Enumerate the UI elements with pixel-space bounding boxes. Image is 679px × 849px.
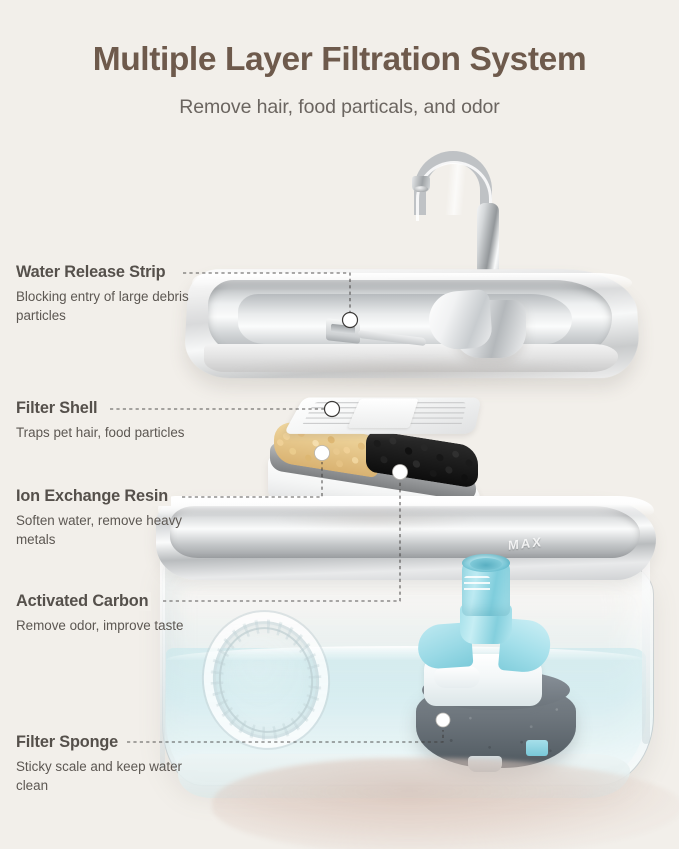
- callout-filter-shell: Filter Shell Traps pet hair, food partic…: [16, 399, 184, 442]
- cartridge-drop-shadow: [276, 508, 476, 530]
- callout-title-filter-sponge: Filter Sponge: [16, 733, 121, 752]
- callout-desc-water-release-strip: Blocking entry of large debris particles: [16, 287, 191, 326]
- filtration-infographic: Multiple Layer Filtration System Remove …: [0, 0, 679, 849]
- callout-title-water-release-strip: Water Release Strip: [16, 263, 168, 282]
- water-release-strip-part: [326, 318, 360, 344]
- callout-activated-carbon: Activated Carbon Remove odor, improve ta…: [16, 592, 183, 635]
- lid-assembly: [186, 148, 656, 373]
- pump-tab: [526, 740, 548, 756]
- lid-rim-highlight: [192, 273, 632, 289]
- lid-drop-shadow: [226, 356, 596, 386]
- callout-title-ion-exchange-resin: Ion Exchange Resin: [16, 487, 171, 506]
- filter-shell-panel: [347, 399, 418, 428]
- callout-filter-sponge: Filter Sponge Sticky scale and keep wate…: [16, 733, 191, 796]
- pump-assembly: [408, 558, 568, 776]
- tank-edge-right: [642, 554, 650, 744]
- callout-desc-ion-exchange-resin: Soften water, remove heavy metals: [16, 511, 191, 550]
- base-drop-shadow: [212, 758, 679, 849]
- callout-desc-activated-carbon: Remove odor, improve taste: [16, 616, 183, 635]
- callout-ion-exchange-resin: Ion Exchange Resin Soften water, remove …: [16, 487, 191, 550]
- callout-title-activated-carbon: Activated Carbon: [16, 592, 151, 611]
- callout-desc-filter-sponge: Sticky scale and keep water clean: [16, 757, 191, 796]
- callout-title-filter-shell: Filter Shell: [16, 399, 100, 418]
- pump-outlet-bore: [470, 558, 502, 570]
- pump-ribs: [464, 576, 490, 594]
- callout-water-release-strip: Water Release Strip Blocking entry of la…: [16, 263, 191, 326]
- faucet-nozzle-icon: [412, 176, 430, 192]
- callout-desc-filter-shell: Traps pet hair, food particles: [16, 423, 184, 442]
